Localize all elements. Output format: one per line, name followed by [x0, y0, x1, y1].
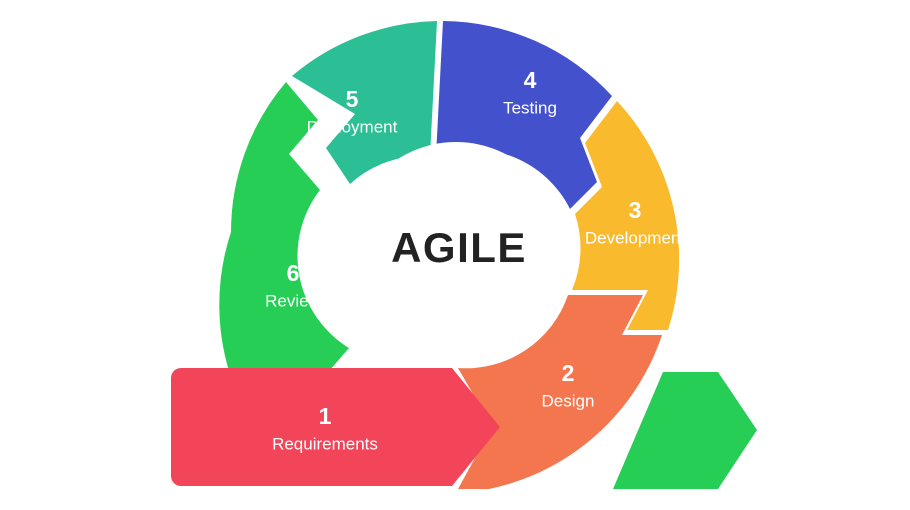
step-deployment-number: 5 [346, 86, 359, 112]
step-requirements-group[interactable]: 1 Requirements [171, 368, 500, 486]
step-review-number: 6 [287, 260, 300, 286]
step-requirements-label: Requirements [272, 434, 378, 453]
step-testing-number: 4 [524, 67, 537, 93]
step-development-number: 3 [629, 197, 642, 223]
step-design-number: 2 [562, 360, 575, 386]
step-review-label: Review [265, 291, 321, 310]
agile-cycle-svg: 6 Review 5 Deployment 4 Testing 3 Develo… [0, 0, 910, 510]
agile-cycle-diagram: 6 Review 5 Deployment 4 Testing 3 Develo… [0, 0, 910, 510]
center-title: AGILE [391, 224, 527, 271]
step-testing-label: Testing [503, 98, 557, 117]
step-requirements-shape[interactable] [171, 368, 500, 486]
center-hub-group: AGILE [348, 142, 564, 358]
step-deployment-label: Deployment [307, 117, 398, 136]
step-development-label: Development [585, 228, 685, 247]
step-design-label: Design [542, 391, 595, 410]
step-requirements-number: 1 [319, 403, 332, 429]
